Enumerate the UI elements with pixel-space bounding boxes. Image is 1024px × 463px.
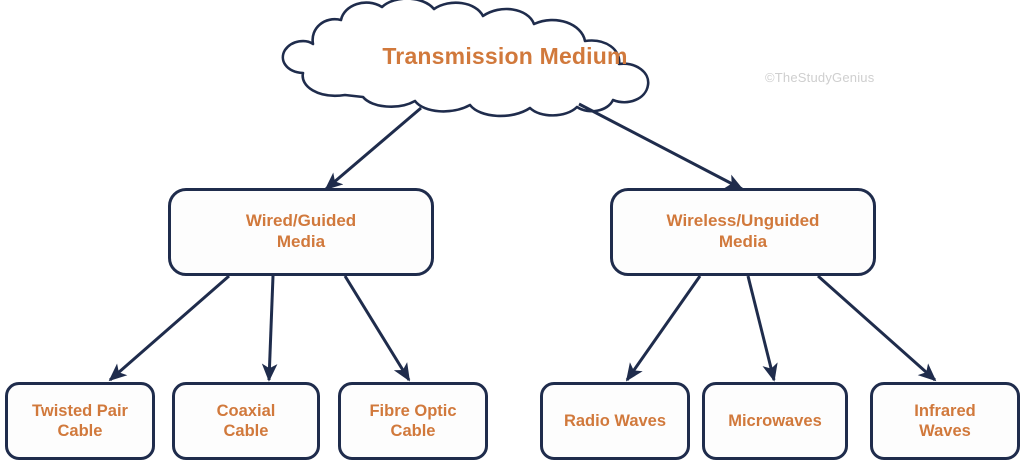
node-microwaves[interactable]: Microwaves <box>702 382 848 460</box>
node-coaxial-cable-label: Coaxial Cable <box>211 401 282 441</box>
connector-wired-to-fibre-optic <box>345 276 409 380</box>
node-wireless-unguided-media-label: Wireless/Unguided Media <box>661 211 826 252</box>
watermark: ©TheStudyGenius <box>765 70 874 85</box>
node-microwaves-label: Microwaves <box>722 411 828 431</box>
node-wired-guided-media[interactable]: Wired/Guided Media <box>168 188 434 276</box>
connector-wired-to-twisted-pair <box>110 276 229 380</box>
node-radio-waves[interactable]: Radio Waves <box>540 382 690 460</box>
node-twisted-pair-cable-label: Twisted Pair Cable <box>26 401 134 441</box>
connector-wired-to-coaxial <box>269 276 273 380</box>
connector-root-to-wired <box>326 108 421 189</box>
node-infrared-waves[interactable]: Infrared Waves <box>870 382 1020 460</box>
node-fibre-optic-cable-label: Fibre Optic Cable <box>363 401 462 441</box>
node-fibre-optic-cable[interactable]: Fibre Optic Cable <box>338 382 488 460</box>
node-twisted-pair-cable[interactable]: Twisted Pair Cable <box>5 382 155 460</box>
node-radio-waves-label: Radio Waves <box>558 411 672 431</box>
transmission-medium-diagram: Transmission Medium Wired/Guided Media W… <box>0 0 1024 463</box>
connector-wireless-to-radio <box>627 276 700 380</box>
cloud-shape <box>283 0 648 116</box>
node-wireless-unguided-media[interactable]: Wireless/Unguided Media <box>610 188 876 276</box>
node-infrared-waves-label: Infrared Waves <box>908 401 981 441</box>
node-coaxial-cable[interactable]: Coaxial Cable <box>172 382 320 460</box>
node-wired-guided-media-label: Wired/Guided Media <box>240 211 362 252</box>
connector-wireless-to-infrared <box>818 276 935 380</box>
connector-root-to-wireless <box>579 104 742 189</box>
connector-wireless-to-microwaves <box>748 276 774 380</box>
